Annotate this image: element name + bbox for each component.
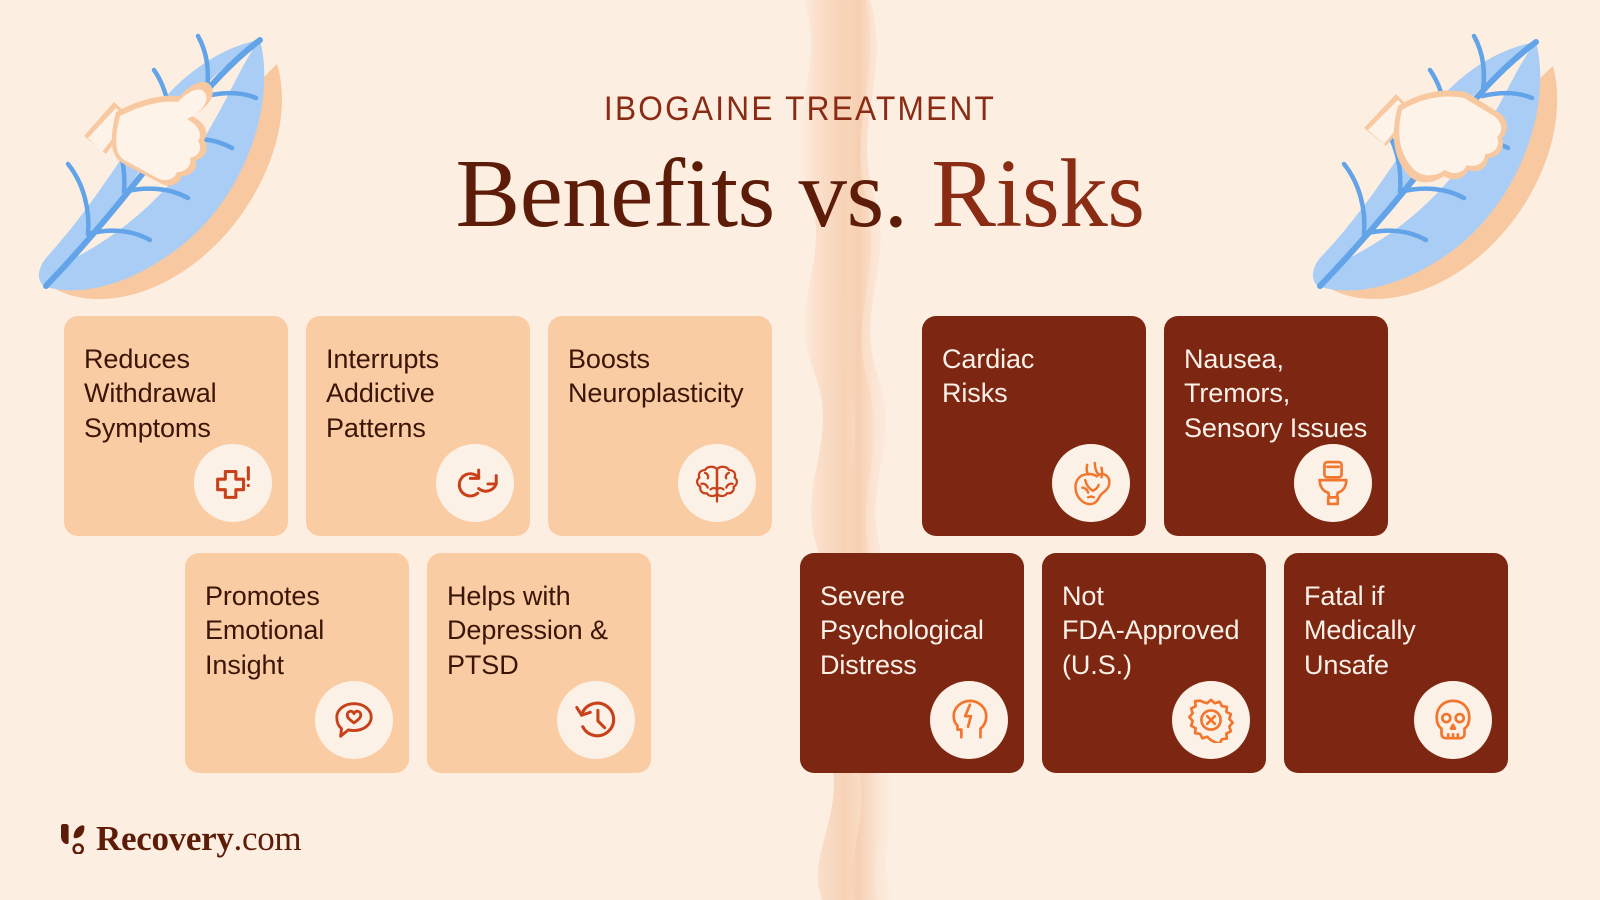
- card-title: Fatal if Medically Unsafe: [1304, 579, 1488, 682]
- card-grid: Reduces Withdrawal Symptoms Interrupts A…: [0, 316, 1600, 786]
- benefits-row-bottom: Promotes Emotional Insight Helps with De…: [185, 553, 651, 773]
- card-title: Not FDA-Approved (U.S.): [1062, 579, 1246, 682]
- card-title: Boosts Neuroplasticity: [568, 342, 752, 411]
- badge-x-icon: [1172, 681, 1250, 759]
- page-title: Benefits vs. Risks: [0, 142, 1600, 247]
- logo-brand: Recovery: [96, 819, 234, 858]
- headline-risks: Risks: [931, 140, 1144, 247]
- risk-card-cardiac-risks[interactable]: Cardiac Risks: [922, 316, 1146, 536]
- skull-icon: [1414, 681, 1492, 759]
- card-title: Helps with Depression & PTSD: [447, 579, 631, 682]
- risk-card-not-fda-approved[interactable]: Not FDA-Approved (U.S.): [1042, 553, 1266, 773]
- risk-card-nausea-tremors-sensory[interactable]: Nausea, Tremors, Sensory Issues: [1164, 316, 1388, 536]
- head-lightning-icon: [930, 681, 1008, 759]
- benefits-column: Reduces Withdrawal Symptoms Interrupts A…: [64, 316, 794, 786]
- infographic-canvas: IBOGAINE TREATMENT Benefits vs. Risks Re…: [0, 0, 1600, 900]
- logo-wordmark: Recovery.com: [96, 821, 301, 856]
- risk-card-severe-psychological-distress[interactable]: Severe Psychological Distress: [800, 553, 1024, 773]
- headline-benefits: Benefits vs.: [456, 140, 908, 247]
- first-aid-cross-alert-icon: [194, 444, 272, 522]
- speech-bubble-heart-icon: [315, 681, 393, 759]
- card-title: Reduces Withdrawal Symptoms: [84, 342, 268, 445]
- header: IBOGAINE TREATMENT Benefits vs. Risks: [0, 92, 1600, 247]
- card-title: Interrupts Addictive Patterns: [326, 342, 510, 445]
- clock-history-icon: [557, 681, 635, 759]
- benefit-card-reduces-withdrawal[interactable]: Reduces Withdrawal Symptoms: [64, 316, 288, 536]
- card-title: Promotes Emotional Insight: [205, 579, 389, 682]
- risks-column: Cardiac Risks: [800, 316, 1530, 786]
- anatomical-heart-icon: [1052, 444, 1130, 522]
- card-title: Cardiac Risks: [942, 342, 1126, 411]
- risks-row-bottom: Severe Psychological Distress Not FDA-Ap…: [800, 553, 1508, 773]
- recovery-leaf-logo-icon: [60, 824, 86, 854]
- benefit-card-interrupts-addictive-patterns[interactable]: Interrupts Addictive Patterns: [306, 316, 530, 536]
- benefit-card-helps-depression-ptsd[interactable]: Helps with Depression & PTSD: [427, 553, 651, 773]
- eyebrow-label: IBOGAINE TREATMENT: [56, 92, 1544, 126]
- risk-card-fatal-if-medically-unsafe[interactable]: Fatal if Medically Unsafe: [1284, 553, 1508, 773]
- risks-row-top: Cardiac Risks: [922, 316, 1388, 536]
- card-title: Nausea, Tremors, Sensory Issues: [1184, 342, 1368, 445]
- benefits-row-top: Reduces Withdrawal Symptoms Interrupts A…: [64, 316, 772, 536]
- brain-icon: [678, 444, 756, 522]
- cycle-arrows-icon: [436, 444, 514, 522]
- benefit-card-boosts-neuroplasticity[interactable]: Boosts Neuroplasticity: [548, 316, 772, 536]
- toilet-icon: [1294, 444, 1372, 522]
- logo-tld: .com: [234, 819, 302, 858]
- card-title: Severe Psychological Distress: [820, 579, 1004, 682]
- benefit-card-promotes-emotional-insight[interactable]: Promotes Emotional Insight: [185, 553, 409, 773]
- recovery-logo[interactable]: Recovery.com: [60, 821, 301, 856]
